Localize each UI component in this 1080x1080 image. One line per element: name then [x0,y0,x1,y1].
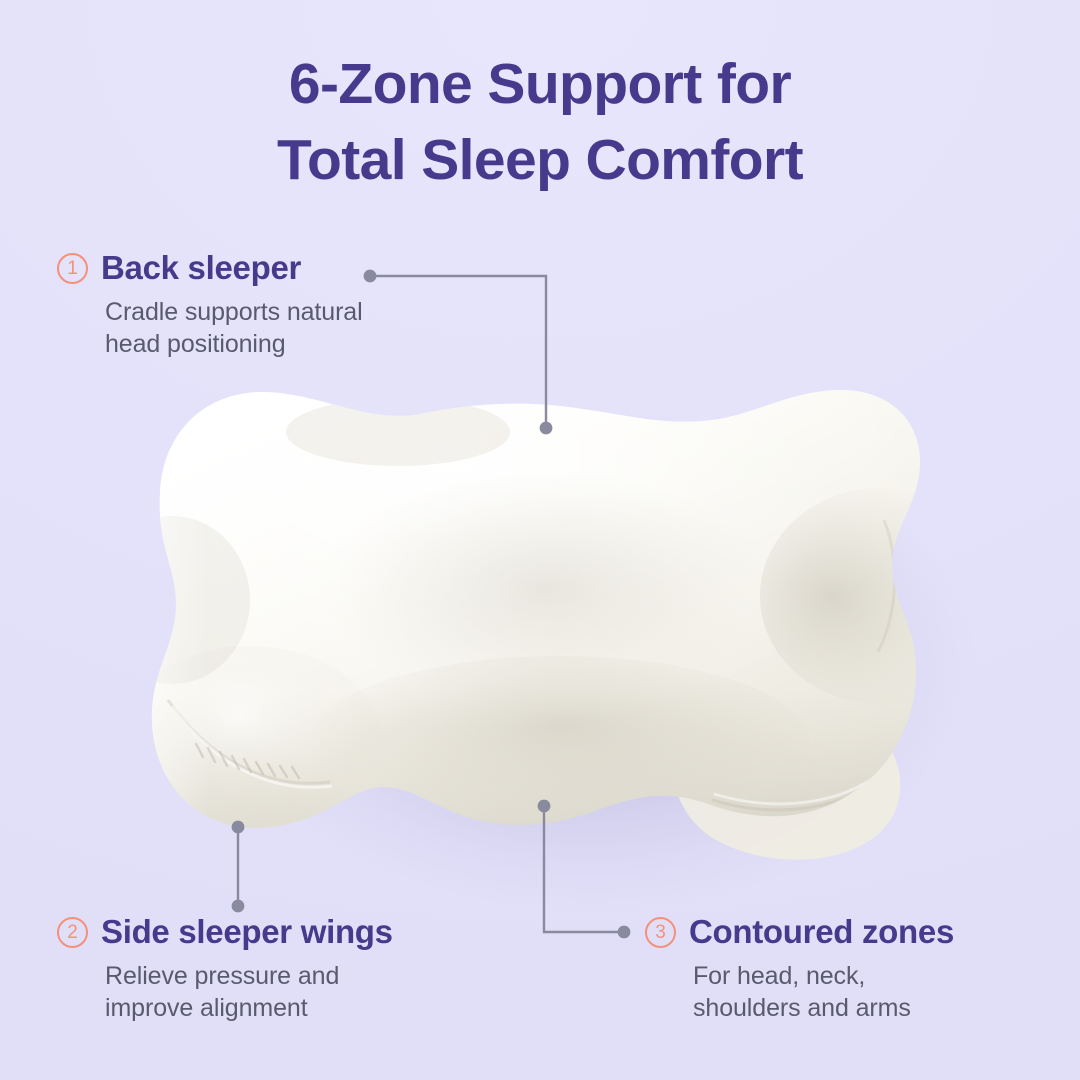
callout-3-heading-row: 3 Contoured zones [645,913,954,951]
leader-dot-1-target [540,422,553,435]
leader-dot-2-label [232,900,245,913]
callout-contoured-zones: 3 Contoured zones For head, neck, should… [645,913,954,1024]
leader-line-3 [544,806,624,932]
callout-3-body: For head, neck, shoulders and arms [693,960,954,1024]
callout-2-number-badge: 2 [57,917,88,948]
callout-1-number-badge: 1 [57,253,88,284]
callout-2-body: Relieve pressure and improve alignment [105,960,393,1024]
callout-2-heading-row: 2 Side sleeper wings [57,913,393,951]
callout-1-heading-row: 1 Back sleeper [57,249,363,287]
leader-dot-3-label [618,926,631,939]
page-title: 6-Zone Support for Total Sleep Comfort [0,46,1080,199]
callout-3-title: Contoured zones [689,913,954,951]
callout-2-title: Side sleeper wings [101,913,393,951]
callout-side-sleeper-wings: 2 Side sleeper wings Relieve pressure an… [57,913,393,1024]
leader-dot-1-label [364,270,377,283]
callout-1-body: Cradle supports natural head positioning [105,296,363,360]
callout-back-sleeper: 1 Back sleeper Cradle supports natural h… [57,249,363,360]
infographic-canvas: 6-Zone Support for Total Sleep Comfort 1… [0,0,1080,1080]
leader-dot-3-target [538,800,551,813]
callout-1-title: Back sleeper [101,249,301,287]
leader-line-1 [370,276,546,428]
leader-dot-2-target [232,821,245,834]
callout-3-number-badge: 3 [645,917,676,948]
